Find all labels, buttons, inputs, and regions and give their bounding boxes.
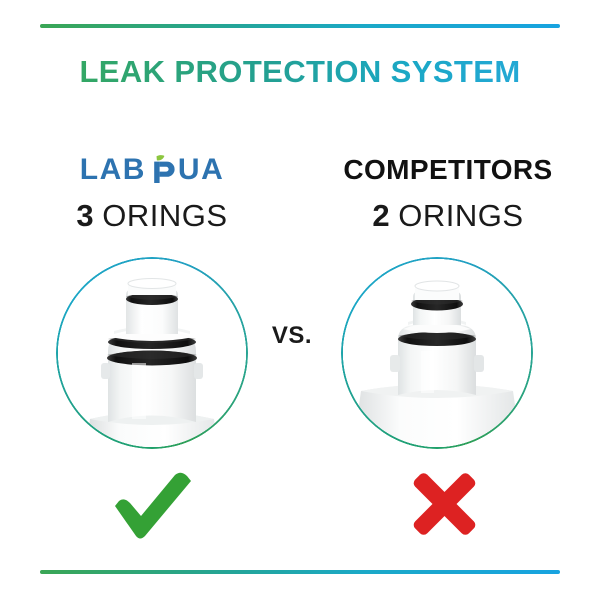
left-column-header: LAB UA 3 ORINGS bbox=[22, 150, 282, 236]
water-filter-cartridge-3-orings bbox=[58, 259, 246, 447]
logo-text-lab: LAB bbox=[80, 150, 146, 190]
left-oring-count: 3 ORINGS bbox=[22, 196, 282, 236]
right-oring-number: 2 bbox=[372, 198, 389, 233]
left-oring-number: 3 bbox=[76, 198, 93, 233]
vs-label: VS. bbox=[247, 322, 337, 350]
logo-text-ua: UA bbox=[178, 150, 224, 190]
left-product-circle bbox=[56, 257, 248, 449]
labpua-logo: LAB UA bbox=[22, 150, 282, 190]
top-divider bbox=[40, 24, 560, 28]
right-oring-word: ORINGS bbox=[398, 198, 523, 233]
water-filter-cartridge-2-orings bbox=[343, 259, 531, 447]
check-icon bbox=[107, 468, 197, 540]
leaf-p-logo-icon bbox=[147, 153, 181, 187]
bottom-divider bbox=[40, 570, 560, 574]
left-oring-word: ORINGS bbox=[102, 198, 227, 233]
cross-icon bbox=[397, 468, 487, 540]
leak-protection-system-infographic: LEAK PROTECTION SYSTEM LAB UA 3 ORINGS C… bbox=[0, 0, 600, 600]
competitors-label-wrap: COMPETITORS bbox=[318, 150, 578, 190]
right-oring-count: 2 ORINGS bbox=[318, 196, 578, 236]
right-column-header: COMPETITORS 2 ORINGS bbox=[318, 150, 578, 236]
competitors-label: COMPETITORS bbox=[343, 150, 552, 190]
page-title: LEAK PROTECTION SYSTEM bbox=[0, 52, 600, 92]
right-product-circle bbox=[341, 257, 533, 449]
